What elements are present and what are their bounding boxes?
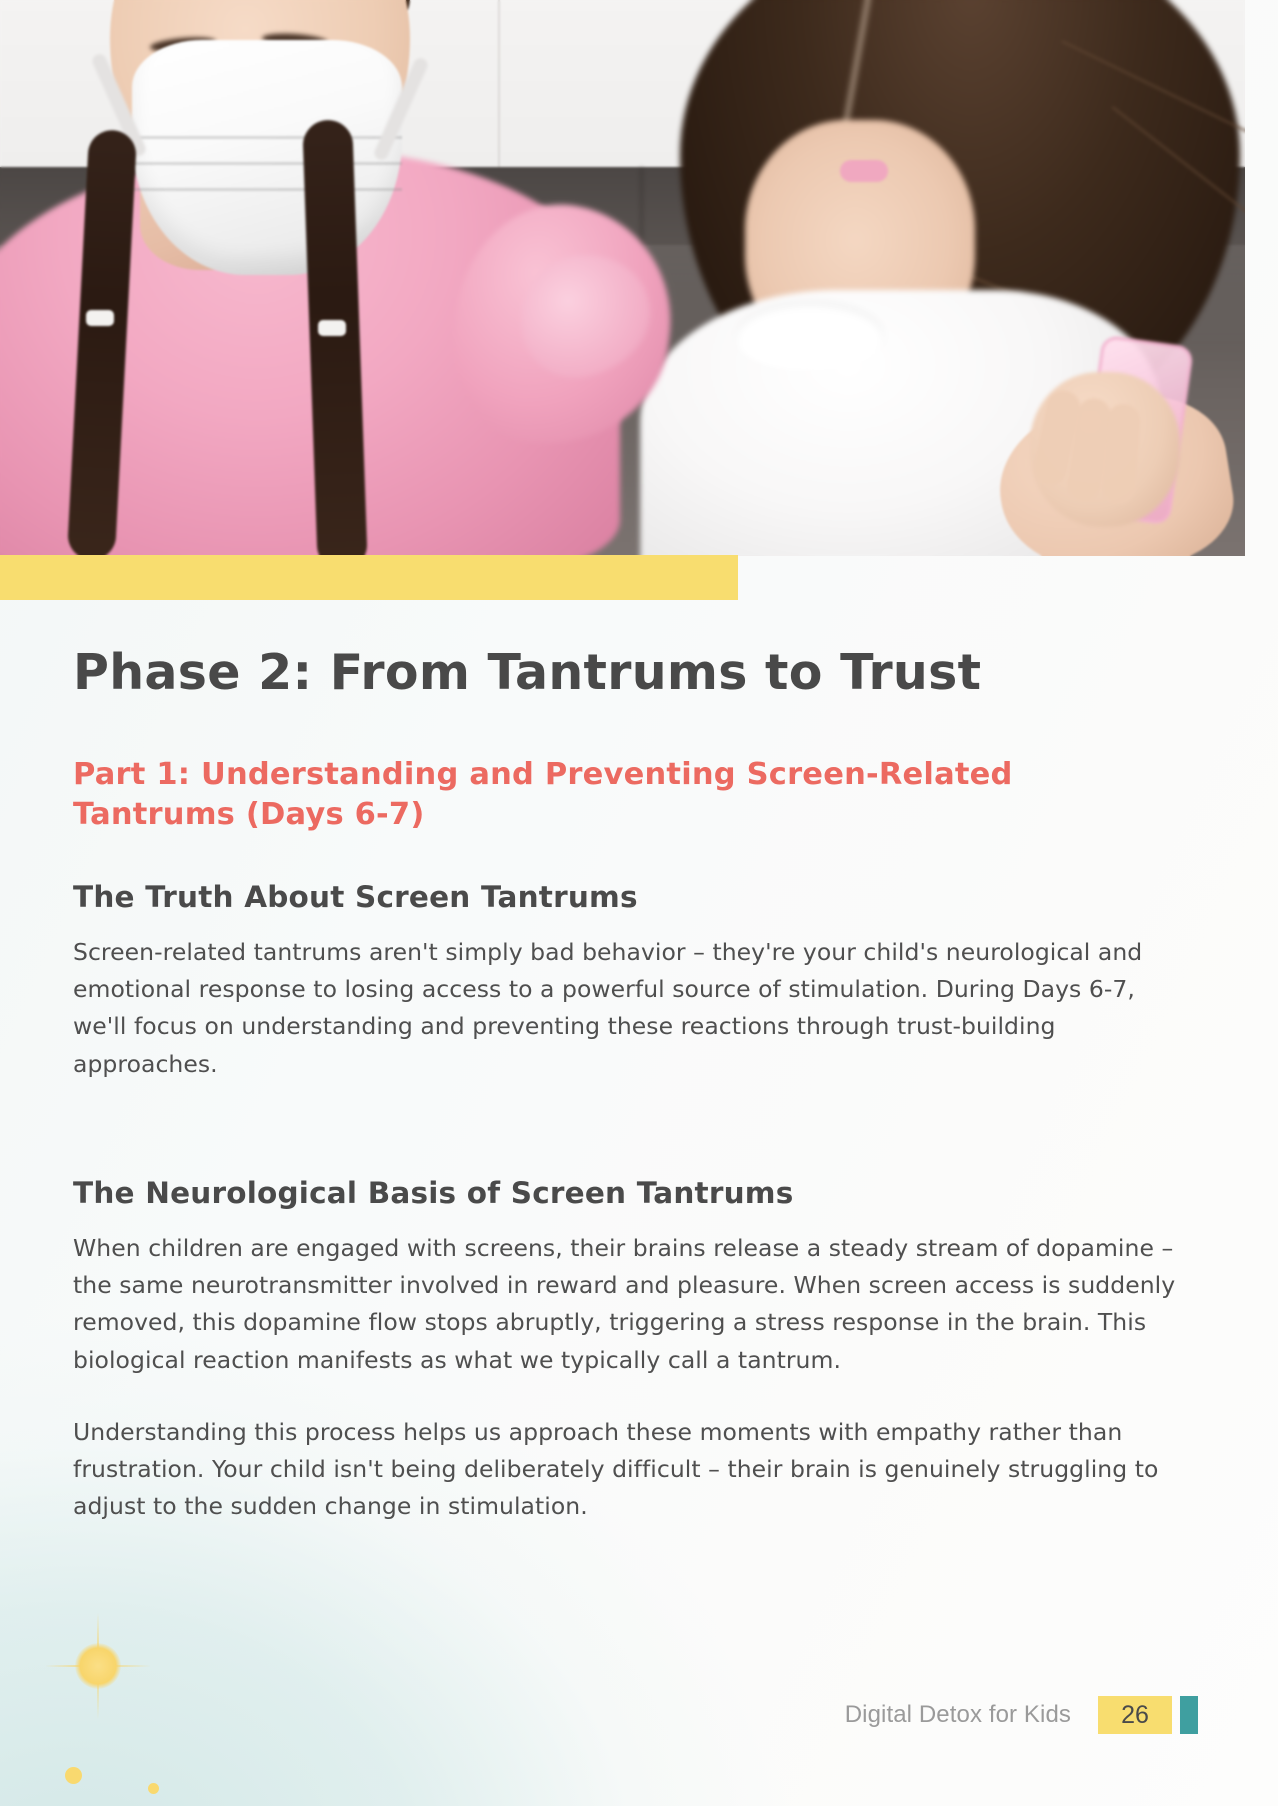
section-neurological-basis: The Neurological Basis of Screen Tantrum… [73, 1176, 1183, 1526]
document-page: Phase 2: From Tantrums to Trust Part 1: … [0, 0, 1278, 1806]
page-number-badge: 26 [1098, 1696, 1172, 1734]
photo-face-mask [132, 40, 402, 275]
photo-girl2-collar [735, 300, 885, 370]
page-subtitle: Part 1: Understanding and Preventing Scr… [73, 755, 1093, 836]
page-footer: Digital Detox for Kids 26 [845, 1696, 1198, 1734]
footer-book-title: Digital Detox for Kids [845, 1701, 1071, 1729]
paragraph: Understanding this process helps us appr… [73, 1414, 1183, 1526]
section-truth-about-screen-tantrums: The Truth About Screen Tantrums Screen-r… [73, 880, 1183, 1083]
photo-finger [1101, 403, 1142, 505]
four-point-sparkle-icon [45, 1613, 151, 1719]
photo-braid-tie [86, 310, 114, 326]
teal-accent-block [1180, 1696, 1198, 1734]
hero-image [0, 0, 1245, 556]
decorative-dot [65, 1767, 82, 1784]
section-heading: The Truth About Screen Tantrums [73, 880, 1183, 914]
page-title: Phase 2: From Tantrums to Trust [73, 644, 981, 701]
section-body: Screen-related tantrums aren't simply ba… [73, 934, 1183, 1083]
paragraph: Screen-related tantrums aren't simply ba… [73, 934, 1183, 1083]
section-body: When children are engaged with screens, … [73, 1230, 1183, 1526]
paragraph: When children are engaged with screens, … [73, 1230, 1183, 1379]
photo-girl2-hair-tie [840, 160, 888, 182]
yellow-accent-bar [0, 555, 738, 600]
decorative-dot [148, 1783, 159, 1794]
section-heading: The Neurological Basis of Screen Tantrum… [73, 1176, 1183, 1210]
photo-braid-tie [318, 320, 346, 336]
